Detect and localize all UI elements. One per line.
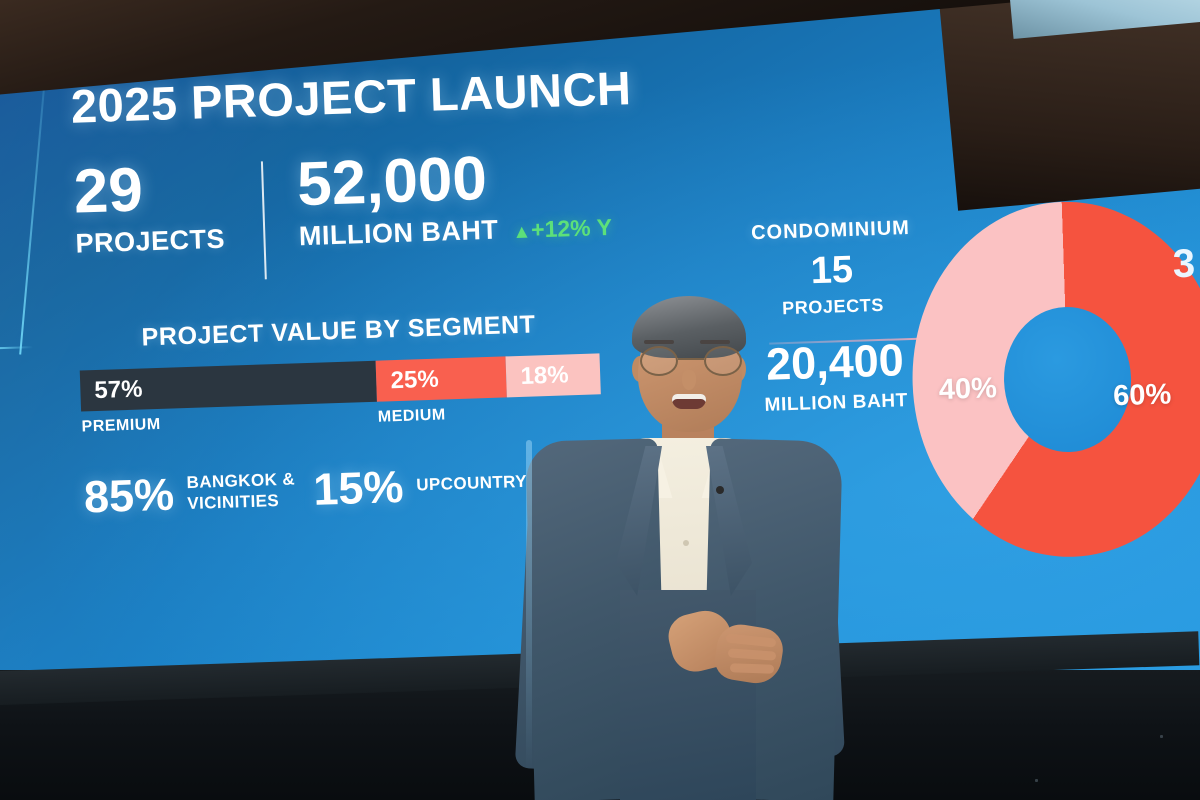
presenter-rim-light — [526, 440, 532, 770]
donut-label-60: 60% — [1113, 378, 1172, 413]
presenter-finger — [730, 663, 774, 674]
decorative-line-secondary-icon — [0, 346, 33, 349]
segment-cell-1: 25% — [376, 356, 507, 401]
edge-text-bottom: 3 — [1172, 242, 1196, 288]
kpi-value-label: MILLION BAHT — [298, 215, 498, 253]
kpi-divider — [260, 161, 266, 279]
presenter-mouth — [672, 394, 706, 409]
floor-reflection — [1160, 735, 1163, 738]
kpi-projects-value: 29 — [73, 159, 224, 221]
donut-label-40: 40% — [938, 372, 997, 407]
region-item-1: 15%UPCOUNTRY — [313, 460, 528, 512]
segment-cell-0: 57% — [80, 361, 378, 412]
kpi-value: 52,000 MILLION BAHT ▲+12% Y — [296, 146, 612, 252]
presenter-eyebrow-right — [700, 340, 730, 344]
kpi-delta-text: +12% Y — [531, 214, 613, 243]
segment-label-0: PREMIUM — [81, 416, 161, 437]
region-percent-1: 15% — [313, 464, 405, 512]
triangle-up-icon: ▲ — [512, 222, 531, 244]
region-item-0: 85%BANGKOK &VICINITIES — [83, 467, 296, 519]
shirt-button — [683, 540, 689, 546]
floor-reflection — [1035, 779, 1038, 782]
kpi-projects: 29 PROJECTS — [73, 159, 226, 260]
presenter-eyebrow-left — [644, 340, 674, 344]
kpi-value-amount: 52,000 — [296, 146, 611, 213]
glasses-bridge — [678, 358, 704, 360]
kpi-projects-label: PROJECTS — [75, 224, 225, 260]
lapel-microphone-icon — [716, 486, 724, 494]
glasses-lens-right — [704, 346, 742, 376]
presenter-person — [520, 290, 850, 800]
donut-chart: 40% 60% — [907, 197, 1200, 562]
segment-label-1: MEDIUM — [378, 406, 446, 426]
kpi-delta-badge: ▲+12% Y — [512, 214, 612, 244]
region-label-0: BANGKOK &VICINITIES — [186, 470, 296, 514]
glasses-lens-left — [640, 346, 678, 376]
region-label-1: UPCOUNTRY — [416, 472, 527, 496]
stage-scene: 2025 PROJECT LAUNCH 29 PROJECTS 52,000 M… — [0, 0, 1200, 800]
presenter-nose — [682, 370, 696, 390]
region-percent-0: 85% — [83, 472, 175, 520]
